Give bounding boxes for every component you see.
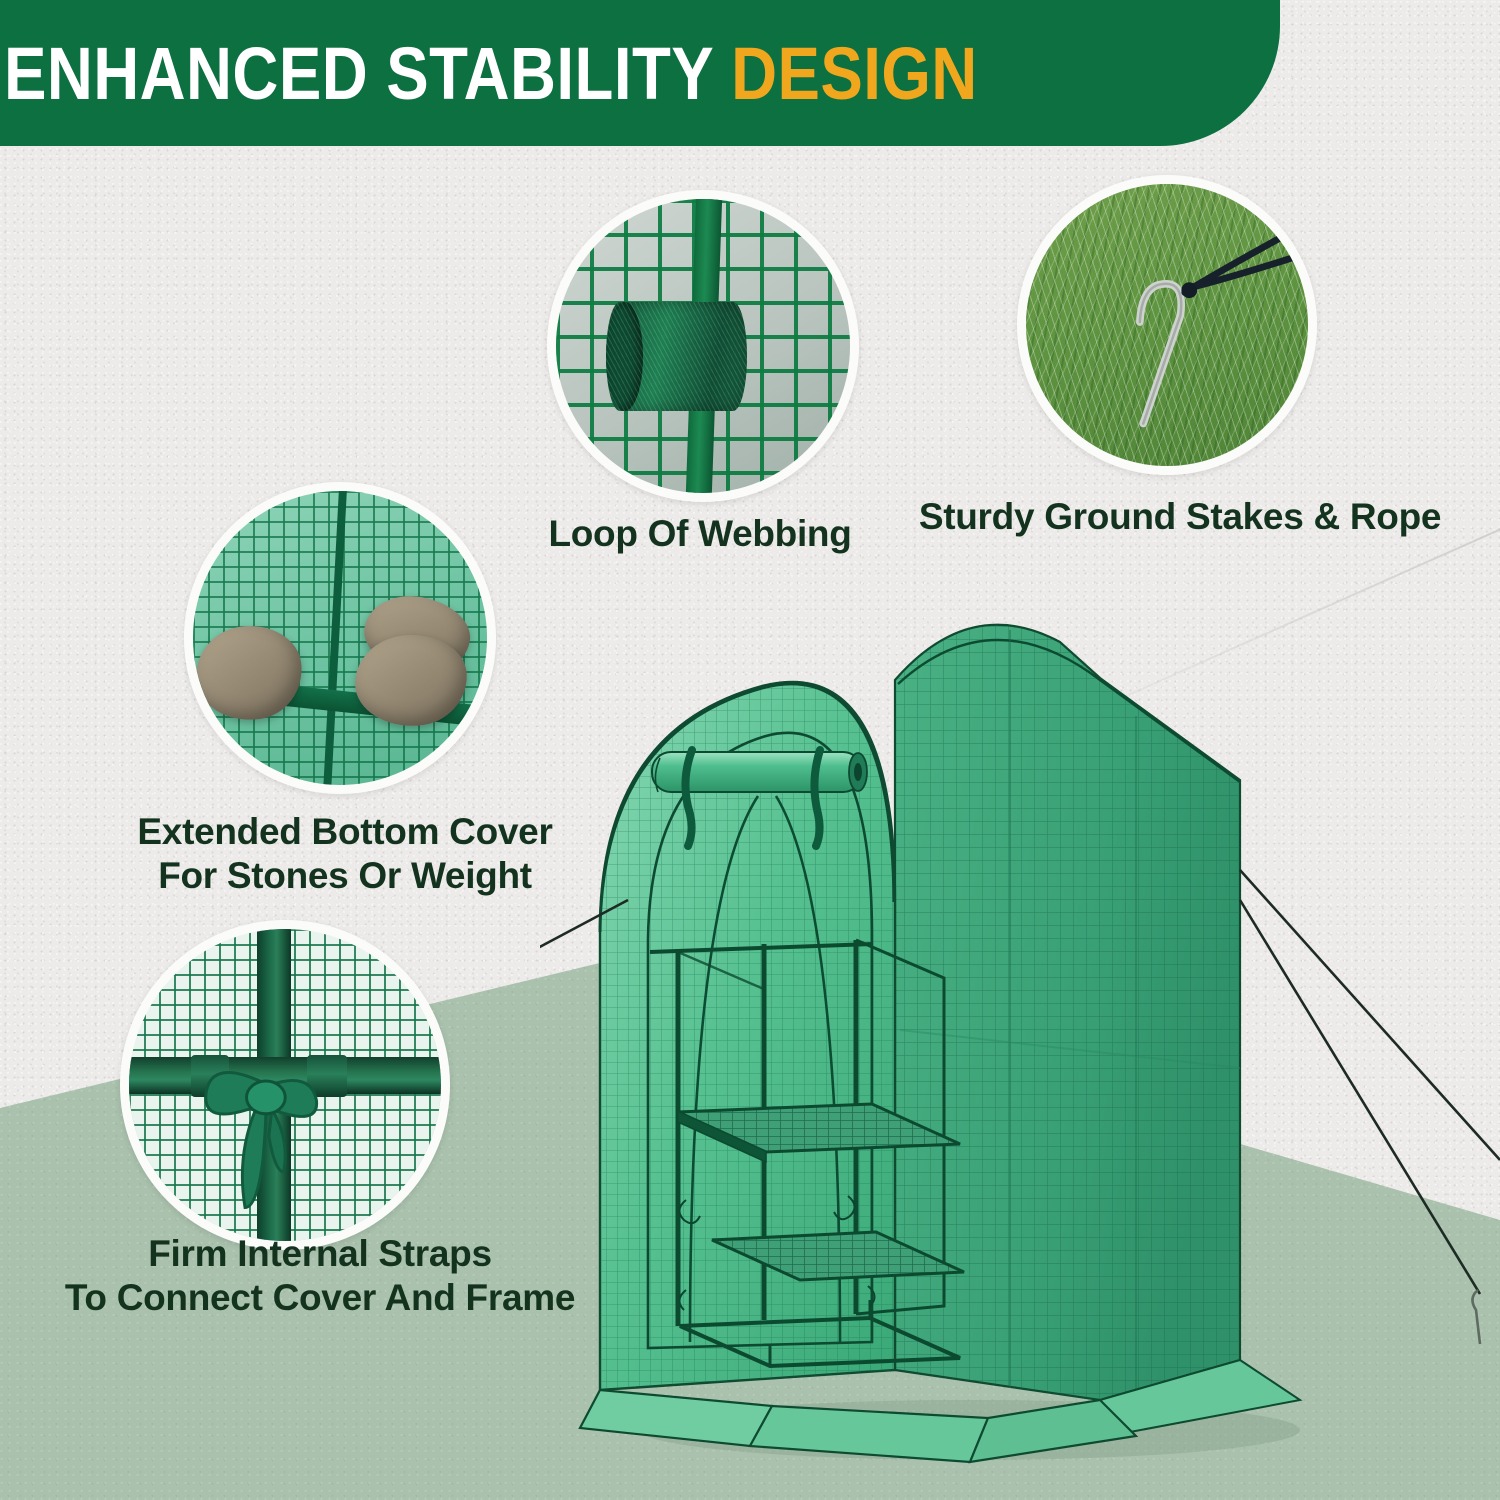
webbing-photo bbox=[556, 199, 850, 493]
callout-photo-internal-straps bbox=[120, 920, 450, 1250]
webbing-loop bbox=[606, 302, 747, 411]
header-banner: ENHANCED STABILITY DESIGN bbox=[0, 0, 1280, 146]
page-title: ENHANCED STABILITY DESIGN bbox=[4, 26, 1036, 122]
callout-photo-extended-bottom-cover bbox=[184, 482, 496, 794]
callout-caption-extended-bottom-cover: Extended Bottom Cover For Stones Or Weig… bbox=[90, 810, 600, 898]
guy-rope bbox=[1178, 218, 1313, 308]
page-title-primary: ENHANCED STABILITY bbox=[4, 32, 713, 115]
greenhouse-product-photo bbox=[540, 600, 1500, 1500]
callout-photo-loop-of-webbing bbox=[547, 190, 859, 502]
callout-photo-ground-stakes bbox=[1017, 175, 1317, 475]
internal-strap-photo bbox=[129, 929, 441, 1241]
callout-caption-ground-stakes: Sturdy Ground Stakes & Rope bbox=[880, 495, 1480, 539]
ground-stake-photo bbox=[1026, 184, 1308, 466]
page-title-accent: DESIGN bbox=[731, 32, 978, 115]
bottom-cover-photo bbox=[193, 491, 487, 785]
strap-bow-knot bbox=[191, 1023, 341, 1216]
callout-caption-internal-straps: Firm Internal Straps To Connect Cover An… bbox=[40, 1232, 600, 1320]
infographic-canvas: ENHANCED STABILITY DESIGN bbox=[0, 0, 1500, 1500]
callout-caption-loop-of-webbing: Loop Of Webbing bbox=[500, 512, 900, 556]
webbing-weave-texture bbox=[606, 302, 747, 411]
